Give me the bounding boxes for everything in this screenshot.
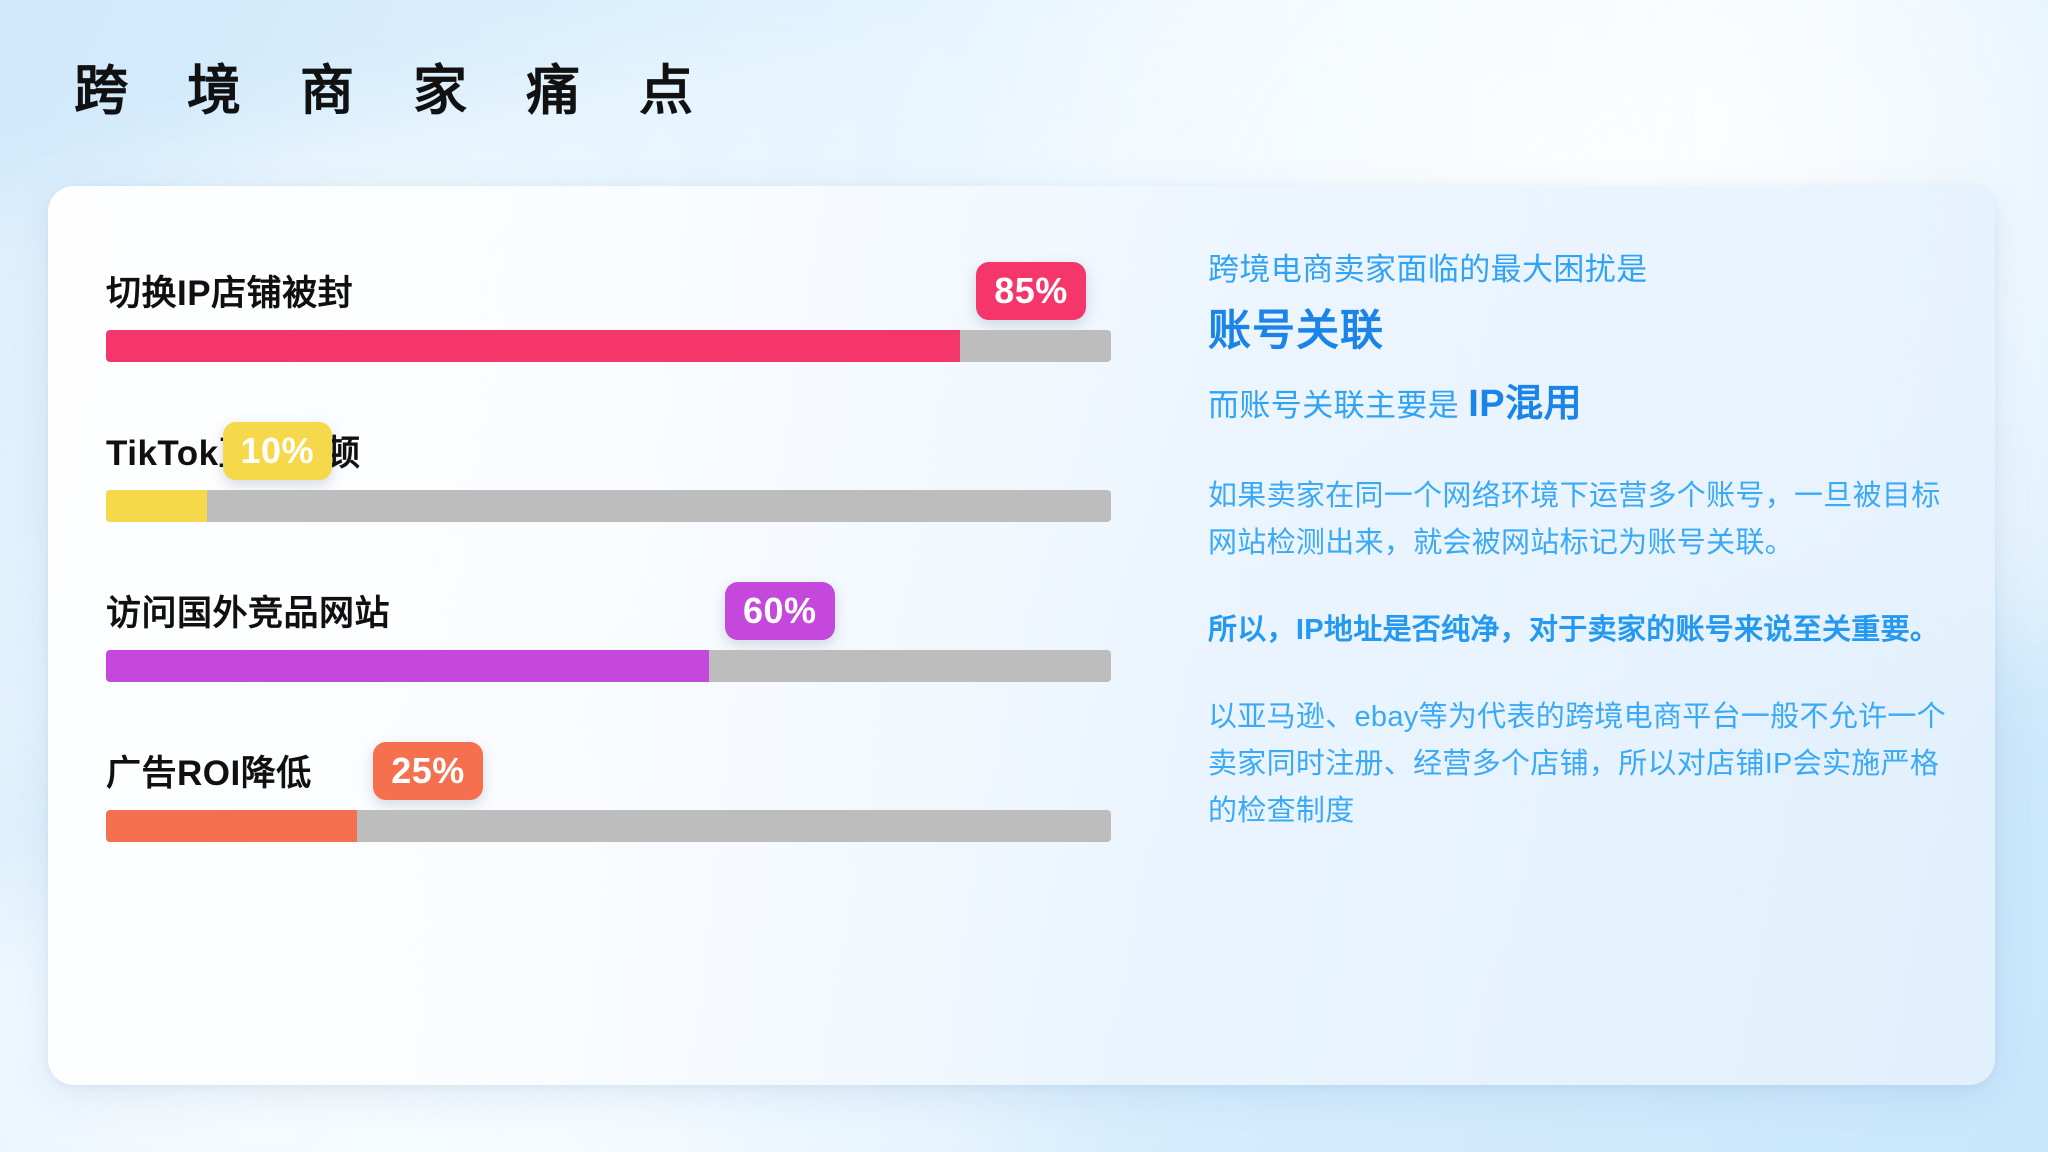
bar-header: 切换IP店铺被封 85% (106, 248, 1166, 316)
copy-paragraph-1: 如果卖家在同一个网络环境下运营多个账号，一旦被目标网站检测出来，就会被网站标记为… (1208, 473, 1968, 567)
bar-value-badge: 85% (976, 262, 1086, 320)
bar-header: 广告ROI降低 25% (106, 728, 1166, 796)
content-card: 切换IP店铺被封 85% TikTok直播卡顿 10% 访问国外竞品网站 (48, 186, 1995, 1085)
bar-fill (106, 490, 207, 522)
copy-paragraph-2: 所以，IP地址是否纯净，对于卖家的账号来说至关重要。 (1208, 607, 1968, 654)
copy-paragraph-3: 以亚马逊、ebay等为代表的跨境电商平台一般不允许一个卖家同时注册、经营多个店铺… (1208, 694, 1968, 835)
bar-value-badge: 25% (373, 742, 483, 800)
slide-root: 跨 境 商 家 痛 点 切换IP店铺被封 85% TikTok直播卡顿 10% (0, 0, 2048, 1152)
bar-label: 切换IP店铺被封 (106, 265, 353, 316)
bar-fill (106, 810, 357, 842)
bar-track (106, 810, 1111, 842)
bar-header: TikTok直播卡顿 10% (106, 408, 1166, 476)
page-title: 跨 境 商 家 痛 点 (74, 62, 715, 121)
bar-fill (106, 650, 709, 682)
bar-row: 访问国外竞品网站 60% (106, 568, 1166, 682)
bar-track (106, 490, 1111, 522)
copy-sub-accent: IP混用 (1468, 383, 1582, 425)
explanation-panel: 跨境电商卖家面临的最大困扰是 账号关联 而账号关联主要是 IP混用 如果卖家在同… (1208, 246, 1968, 835)
copy-sub: 而账号关联主要是 IP混用 (1208, 376, 1968, 433)
bar-row: TikTok直播卡顿 10% (106, 408, 1166, 522)
bar-value-badge: 10% (223, 422, 333, 480)
pain-point-bar-chart: 切换IP店铺被封 85% TikTok直播卡顿 10% 访问国外竞品网站 (106, 248, 1166, 842)
bar-value-badge: 60% (725, 582, 835, 640)
bar-row: 切换IP店铺被封 85% (106, 248, 1166, 362)
bar-label: 广告ROI降低 (106, 745, 312, 796)
copy-hero: 账号关联 (1208, 303, 1968, 360)
bar-label: 访问国外竞品网站 (106, 585, 390, 636)
copy-lead: 跨境电商卖家面临的最大困扰是 (1208, 246, 1968, 293)
bar-track (106, 650, 1111, 682)
bar-track (106, 330, 1111, 362)
bar-fill (106, 330, 960, 362)
copy-sub-prefix: 而账号关联主要是 (1208, 388, 1459, 423)
bar-row: 广告ROI降低 25% (106, 728, 1166, 842)
bar-header: 访问国外竞品网站 60% (106, 568, 1166, 636)
